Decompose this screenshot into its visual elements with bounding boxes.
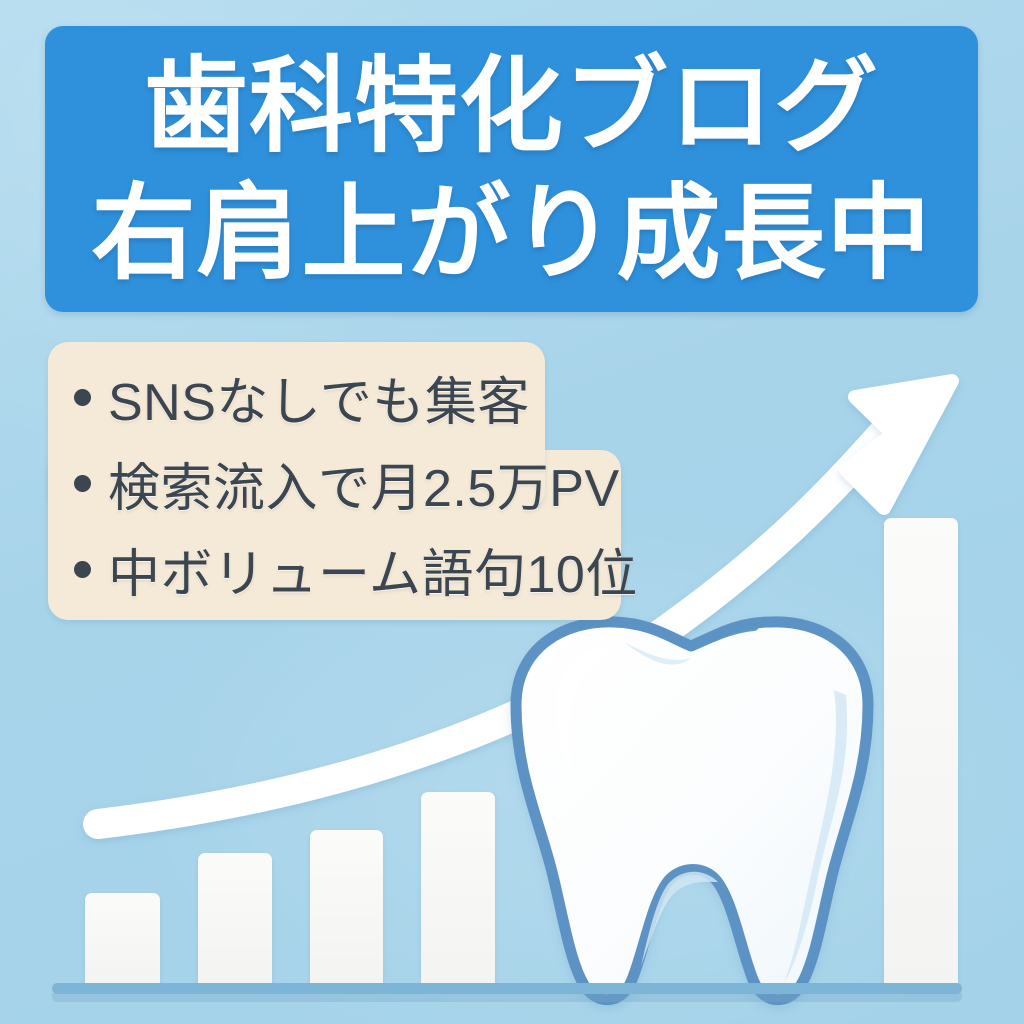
bullet-dot-icon [74, 561, 91, 578]
chart-baseline [52, 983, 962, 994]
chart-bar-2 [198, 853, 272, 988]
page-title: 歯科特化ブログ 右肩上がり成長中 [45, 44, 978, 298]
poster-canvas: 歯科特化ブログ 右肩上がり成長中 SNSなしでも集客 検索流入で月2.5万PV … [0, 0, 1024, 1024]
bullet-label: 中ボリューム語句10位 [108, 532, 638, 607]
list-item: 検索流入で月2.5万PV [74, 440, 638, 526]
bullet-dot-icon [74, 475, 91, 492]
chart-bar-4 [421, 792, 495, 988]
bullet-dot-icon [74, 389, 91, 406]
header-band: 歯科特化ブログ 右肩上がり成長中 [45, 26, 978, 312]
bullets-card: SNSなしでも集客 検索流入で月2.5万PV 中ボリューム語句10位 [48, 342, 628, 620]
chart-bar-3 [310, 830, 383, 988]
bullet-label: SNSなしでも集客 [108, 360, 530, 435]
bullet-label: 検索流入で月2.5万PV [108, 446, 620, 521]
list-item: 中ボリューム語句10位 [74, 526, 638, 612]
tooth-icon [486, 600, 896, 1024]
list-item: SNSなしでも集客 [74, 354, 638, 440]
chart-bar-1 [85, 893, 160, 988]
chart-baseline-shadow [52, 993, 962, 1002]
bullet-list: SNSなしでも集客 検索流入で月2.5万PV 中ボリューム語句10位 [74, 354, 638, 612]
